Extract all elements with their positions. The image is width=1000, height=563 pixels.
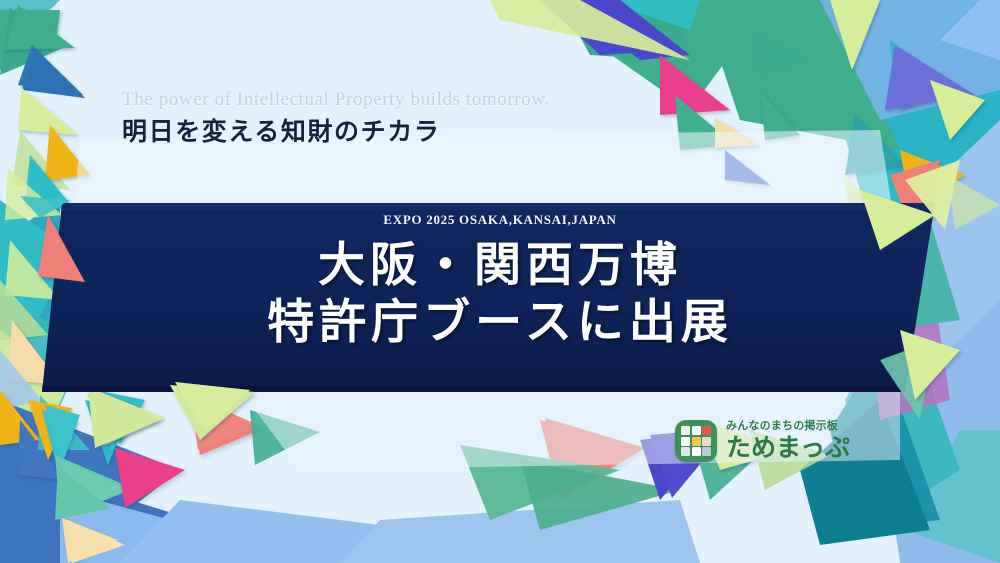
logo-tile bbox=[702, 437, 711, 446]
logo-tile bbox=[702, 426, 711, 435]
logo-text-block: みんなのまちの掲示板 ためまっぷ bbox=[726, 420, 850, 462]
logo-tagline: みんなのまちの掲示板 bbox=[726, 420, 850, 432]
banner-eyebrow: EXPO 2025 OSAKA,KANSAI,JAPAN bbox=[0, 212, 1000, 228]
poster-canvas: The power of Intellectual Property build… bbox=[0, 0, 1000, 563]
headline-japanese: 明日を変える知財のチカラ bbox=[122, 115, 550, 149]
logo-tile bbox=[681, 447, 690, 456]
logo-tile bbox=[681, 437, 690, 446]
banner-text-block: EXPO 2025 OSAKA,KANSAI,JAPAN 大阪・関西万博 特許庁… bbox=[0, 212, 1000, 351]
headline-block: The power of Intellectual Property build… bbox=[122, 88, 550, 149]
logo-name: ためまっぷ bbox=[726, 434, 850, 462]
banner-title-line-2: 特許庁ブースに出展 bbox=[0, 295, 1000, 350]
logo-icon-tile-grid bbox=[681, 426, 711, 456]
logo-tile bbox=[692, 437, 701, 446]
logo-tile bbox=[692, 426, 701, 435]
tamemap-logo[interactable]: みんなのまちの掲示板 ためまっぷ bbox=[675, 420, 850, 462]
headline-english: The power of Intellectual Property build… bbox=[122, 88, 550, 112]
logo-tile bbox=[702, 447, 711, 456]
banner-title-line-1: 大阪・関西万博 bbox=[0, 238, 1000, 293]
logo-tile bbox=[692, 447, 701, 456]
logo-tile bbox=[681, 426, 690, 435]
tamemap-app-icon bbox=[675, 420, 717, 462]
